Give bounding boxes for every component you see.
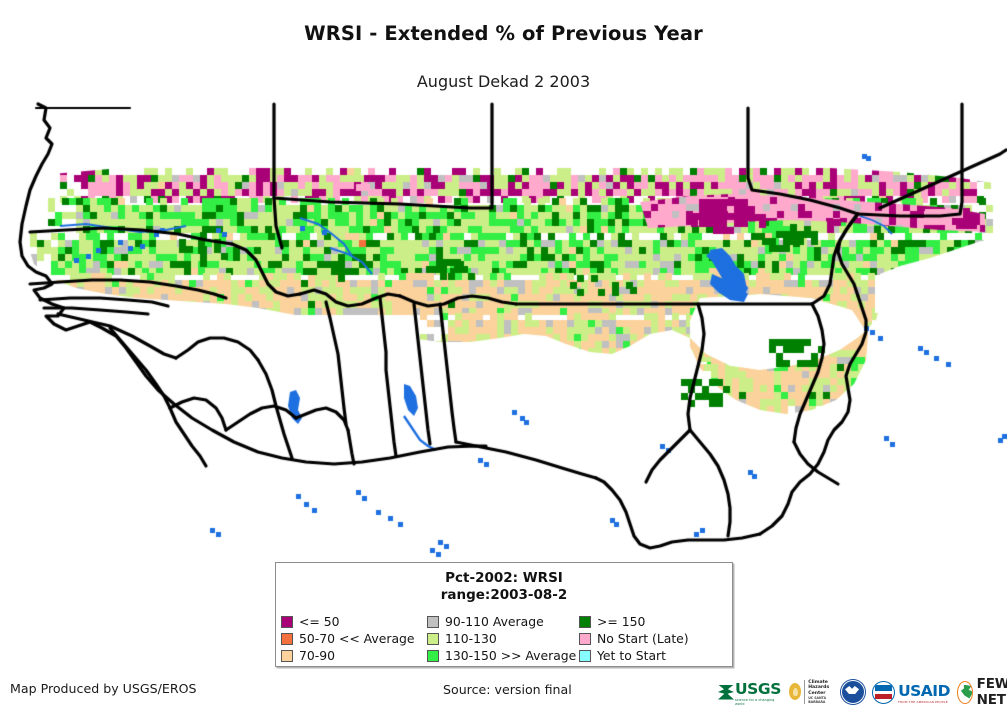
fews-net-logo: FEWS NET: [957, 676, 1007, 708]
noaa-seabird-icon: [841, 680, 865, 704]
legend-column-2: 90-110 Average 110-130 130-150 >> Averag…: [427, 614, 579, 665]
legend-entry: 130-150 >> Average: [427, 648, 579, 664]
legend-entry: <= 50: [281, 614, 427, 630]
producer-credit: Map Produced by USGS/EROS: [10, 681, 196, 696]
usaid-logo-text: USAID: [898, 682, 950, 700]
usgs-logo: USGS science for a changing world: [718, 679, 782, 706]
legend-swatch-icon: [579, 616, 591, 628]
bird-icon: [845, 686, 859, 694]
legend-swatch-icon: [579, 650, 591, 662]
legend-entry: 70-90: [281, 648, 427, 664]
legend-entry: 110-130: [427, 631, 579, 647]
seal-band-red: [875, 694, 892, 699]
legend-entry-label: No Start (Late): [597, 632, 689, 646]
drop-inner-icon: [793, 688, 798, 696]
chc-subline: UC SANTA BARBARA: [808, 696, 834, 704]
map-legend: Pct-2002: WRSI range:2003-08-2 <= 50 50-…: [275, 562, 733, 667]
legend-entry: >= 150: [579, 614, 727, 630]
legend-column-3: >= 150 No Start (Late) Yet to Start: [579, 614, 727, 665]
legend-title-line2: range:2003-08-2: [276, 587, 732, 604]
partner-logos: USGS science for a changing world Climat…: [718, 675, 1003, 709]
legend-entry: Yet to Start: [579, 648, 727, 664]
legend-swatch-icon: [427, 616, 439, 628]
wrsi-raster-map[interactable]: [0, 98, 1007, 568]
map-page: WRSI - Extended % of Previous Year Augus…: [0, 0, 1007, 715]
chc-logo: Climate Hazards Center UC SANTA BARBARA: [789, 680, 834, 704]
legend-entry: No Start (Late): [579, 631, 727, 647]
map-viewport[interactable]: [0, 98, 1007, 568]
page-subtitle: August Dekad 2 2003: [0, 72, 1007, 91]
usgs-wave-icon: [718, 685, 734, 700]
usaid-seal-icon: [872, 681, 895, 704]
seal-band-blue: [875, 685, 892, 691]
legend-entry-label: Yet to Start: [597, 649, 666, 663]
noaa-logo: [841, 680, 865, 704]
usaid-logo: USAID FROM THE AMERICAN PEOPLE: [872, 681, 950, 704]
legend-swatch-icon: [281, 633, 293, 645]
legend-swatch-icon: [281, 616, 293, 628]
globe-land-icon: [961, 685, 973, 699]
usgs-tagline: science for a changing world: [735, 698, 782, 706]
legend-swatch-icon: [579, 633, 591, 645]
source-credit: Source: version final: [443, 682, 572, 697]
legend-title-line1: Pct-2002: WRSI: [276, 570, 732, 587]
legend-entry-label: 130-150 >> Average: [445, 649, 576, 663]
water-drop-icon: [789, 683, 801, 700]
legend-swatch-icon: [281, 650, 293, 662]
globe-icon: [957, 681, 973, 704]
legend-entry: 90-110 Average: [427, 614, 579, 630]
legend-columns: <= 50 50-70 << Average 70-90 90-110 Aver…: [281, 614, 729, 665]
usaid-tagline: FROM THE AMERICAN PEOPLE: [898, 700, 950, 704]
legend-entry-label: 50-70 << Average: [299, 632, 415, 646]
legend-entry-label: <= 50: [299, 615, 339, 629]
legend-entry: 50-70 << Average: [281, 631, 427, 647]
usgs-logo-text: USGS: [735, 680, 781, 698]
legend-swatch-icon: [427, 650, 439, 662]
legend-entry-label: 110-130: [445, 632, 497, 646]
page-title: WRSI - Extended % of Previous Year: [0, 22, 1007, 45]
chc-wordmark: Climate Hazards Center UC SANTA BARBARA: [804, 680, 834, 704]
legend-entry-label: 70-90: [299, 649, 335, 663]
fews-logo-text: FEWS NET: [977, 676, 1007, 708]
legend-entry-label: >= 150: [597, 615, 645, 629]
legend-swatch-icon: [427, 633, 439, 645]
legend-entry-label: 90-110 Average: [445, 615, 544, 629]
legend-column-1: <= 50 50-70 << Average 70-90: [281, 614, 427, 665]
